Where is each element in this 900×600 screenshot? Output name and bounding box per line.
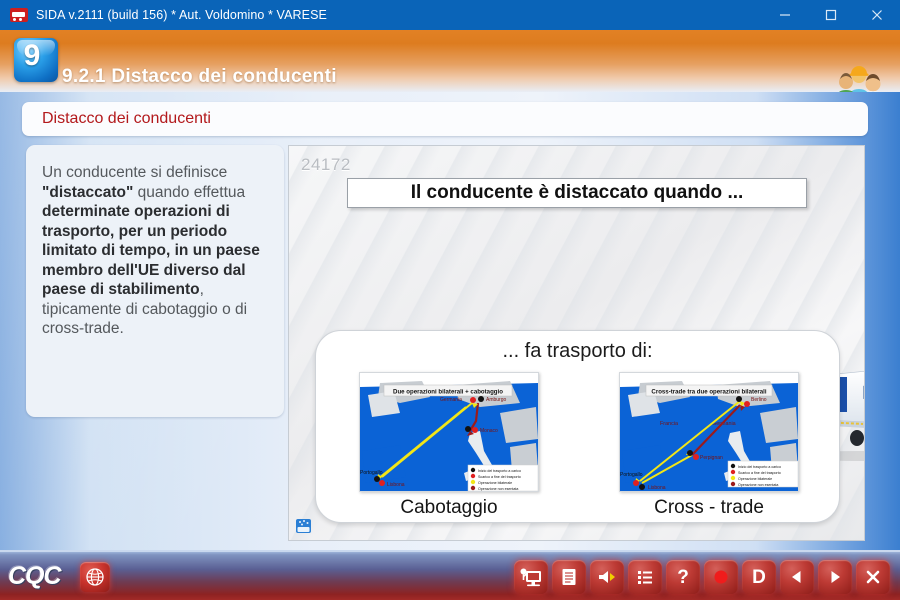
page-header: 9 9.2.1 Distacco dei conducenti <box>0 30 900 92</box>
chapter-badge: 9 <box>10 34 62 86</box>
svg-text:Monaco: Monaco <box>480 428 498 434</box>
svg-text:Portogallo: Portogallo <box>620 472 643 478</box>
description-text: Un conducente si definisce "distaccato" … <box>42 163 268 339</box>
svg-text:Amburgo: Amburgo <box>486 397 507 403</box>
help-icon[interactable]: ? <box>666 560 700 594</box>
svg-text:Operazione bilaterale: Operazione bilaterale <box>738 477 772 481</box>
audio-icon[interactable] <box>590 560 624 594</box>
svg-text:Due operazioni bilaterali + ca: Due operazioni bilaterali + cabotaggio <box>393 389 503 396</box>
truck-icon <box>10 8 28 22</box>
svg-text:Scarico a fine del trasporto: Scarico a fine del trasporto <box>738 471 781 475</box>
window-title: SIDA v.2111 (build 156) * Aut. Voldomino… <box>36 8 327 22</box>
map-caption-cabotaggio: Cabotaggio <box>359 497 539 519</box>
slide-id: 24172 <box>301 155 351 175</box>
svg-text:Francia: Francia <box>660 421 678 427</box>
close-button[interactable] <box>854 0 900 30</box>
maximize-button[interactable] <box>808 0 854 30</box>
svg-text:Inizio del trasporto a carico: Inizio del trasporto a carico <box>478 469 521 473</box>
svg-text:Lisbona: Lisbona <box>648 485 666 491</box>
document-icon[interactable] <box>552 560 586 594</box>
previous-icon[interactable] <box>780 560 814 594</box>
window-controls <box>762 0 900 30</box>
section-title-bar: Distacco dei conducenti <box>22 102 868 136</box>
next-icon[interactable] <box>818 560 852 594</box>
description-panel: Un conducente si definisce "distaccato" … <box>26 145 284 417</box>
svg-text:Operazione bilaterale: Operazione bilaterale <box>478 481 512 485</box>
map-image-crosstrade: Cross-trade tra due operazioni bilateral… <box>619 372 799 492</box>
svg-text:Germania: Germania <box>440 397 462 403</box>
record-icon[interactable] <box>704 560 738 594</box>
slide-subtitle: ... fa trasporto di: <box>316 340 839 363</box>
map-caption-crosstrade: Cross - trade <box>619 497 799 519</box>
svg-text:Cross-trade tra due operazioni: Cross-trade tra due operazioni bilateral… <box>651 389 766 396</box>
d-glyph: D <box>752 568 766 587</box>
svg-text:Scarico a fine del trasporto: Scarico a fine del trasporto <box>478 475 521 479</box>
people-group-icon <box>828 63 890 92</box>
transport-types-card: ... fa trasporto di: <box>315 330 840 523</box>
slide-panel: 24172 Il conducente è distaccato quando … <box>288 145 865 541</box>
svg-text:Operazione non esentata: Operazione non esentata <box>738 483 778 487</box>
d-button-icon[interactable]: D <box>742 560 776 594</box>
cqc-logo: CQC <box>8 563 72 589</box>
svg-text:Inizio del trasporto a carico: Inizio del trasporto a carico <box>738 465 781 469</box>
svg-text:Operazione non esentata: Operazione non esentata <box>478 487 518 491</box>
globe-icon[interactable] <box>80 562 110 592</box>
slide-title: Il conducente è distaccato quando ... <box>411 182 744 204</box>
map-image-cabotaggio: Due operazioni bilaterali + cabotaggio A… <box>359 372 539 492</box>
list-icon[interactable] <box>628 560 662 594</box>
chapter-badge-number: 9 <box>10 34 54 78</box>
title-bar: SIDA v.2111 (build 156) * Aut. Voldomino… <box>0 0 900 30</box>
slide-title-box: Il conducente è distaccato quando ... <box>347 178 807 208</box>
svg-text:Berlino: Berlino <box>751 397 767 403</box>
application-window: SIDA v.2111 (build 156) * Aut. Voldomino… <box>0 0 900 600</box>
minimize-button[interactable] <box>762 0 808 30</box>
close-icon[interactable] <box>856 560 890 594</box>
slide-badge-icon <box>295 518 313 534</box>
map-cell-crosstrade[interactable]: Cross-trade tra due operazioni bilateral… <box>619 372 799 519</box>
map-cell-cabotaggio[interactable]: Due operazioni bilaterali + cabotaggio A… <box>359 372 539 519</box>
section-title: Distacco dei conducenti <box>42 110 211 128</box>
presentation-icon[interactable] <box>514 560 548 594</box>
bottom-toolbar: CQC <box>0 550 900 600</box>
toolbar-buttons: ? D <box>514 560 890 594</box>
svg-text:Perpignan: Perpignan <box>700 455 723 461</box>
page-title: 9.2.1 Distacco dei conducenti <box>62 66 337 88</box>
svg-text:Portogallo: Portogallo <box>360 470 383 476</box>
help-glyph: ? <box>677 568 689 587</box>
svg-text:Lisbona: Lisbona <box>387 482 405 488</box>
